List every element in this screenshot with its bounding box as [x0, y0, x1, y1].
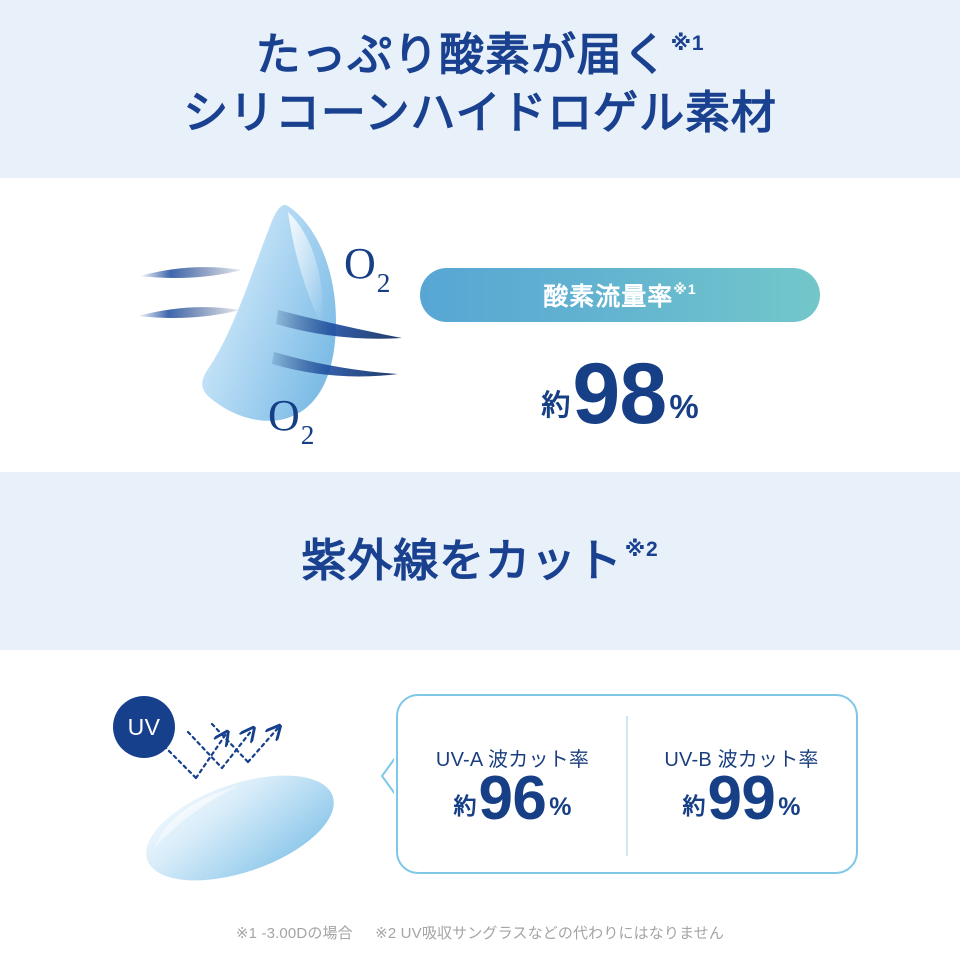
o2-label-bottom: O2 [268, 394, 313, 445]
oxygen-flow-rate-footnote-marker: ※1 [673, 281, 696, 297]
oxygen-approx-prefix: 約 [541, 392, 570, 421]
oxygen-heading-footnote-marker: ※1 [671, 32, 705, 55]
uv-heading-footnote-marker: ※2 [625, 538, 659, 561]
uv-stat-cell-uva: UV-A 波カット率 約 96 % [398, 696, 627, 872]
uv-stats-bubble: UV-A 波カット率 約 96 % UV-B 波カット率 約 99 % [396, 694, 858, 874]
uv-stat-value-uva: 約 96 % [454, 774, 572, 825]
oxygen-heading-line2: シリコーンハイドロゲル素材 [0, 84, 960, 142]
uv-badge: UV [113, 696, 175, 758]
footnote-2: ※2 UV吸収サングラスなどの代わりにはなりません [375, 925, 724, 942]
uvb-value-unit: % [778, 795, 800, 820]
o2-label-top-subscript: 2 [377, 268, 391, 298]
o2-label-bottom-subscript: 2 [301, 420, 315, 450]
o2-label-bottom-letter: O [268, 391, 300, 440]
footnote-1: ※1 -3.00Dの場合 [236, 925, 353, 942]
oxygen-heading-line1: たっぷり酸素が届く※1 [0, 26, 960, 84]
oxygen-heading: たっぷり酸素が届く※1 シリコーンハイドロゲル素材 [0, 26, 960, 141]
footnotes: ※1 -3.00Dの場合 ※2 UV吸収サングラスなどの代わりにはなりません [0, 922, 960, 943]
uv-illustration: UV [100, 688, 370, 883]
uv-heading: 紫外線をカット※2 [0, 532, 960, 590]
uv-stat-cell-uvb: UV-B 波カット率 約 99 % [627, 696, 856, 872]
uv-heading-text: 紫外線をカット [301, 535, 622, 586]
uva-value-number: 96 [479, 774, 547, 825]
uv-badge-label: UV [128, 714, 161, 741]
oxygen-flow-rate-label-text: 酸素流量率 [543, 283, 673, 311]
uvb-approx-prefix: 約 [683, 795, 706, 818]
oxygen-value-number: 98 [572, 359, 666, 430]
uvb-value-number: 99 [708, 774, 776, 825]
infographic-page: たっぷり酸素が届く※1 シリコーンハイドロゲル素材 [0, 0, 960, 960]
oxygen-flow-rate-value: 約 98 % [420, 330, 820, 430]
o2-label-top-letter: O [344, 239, 376, 288]
uva-approx-prefix: 約 [454, 795, 477, 818]
oxygen-illustration: O2 O2 [130, 198, 430, 460]
uva-value-unit: % [549, 795, 571, 820]
o2-label-top: O2 [344, 242, 389, 293]
uv-stat-value-uvb: 約 99 % [683, 774, 801, 825]
oxygen-flow-rate-bar: 酸素流量率※1 [420, 268, 820, 322]
oxygen-value-unit: % [669, 390, 698, 423]
oxygen-flow-rate-label: 酸素流量率※1 [543, 277, 696, 313]
oxygen-heading-line1-text: たっぷり酸素が届く [255, 29, 668, 80]
